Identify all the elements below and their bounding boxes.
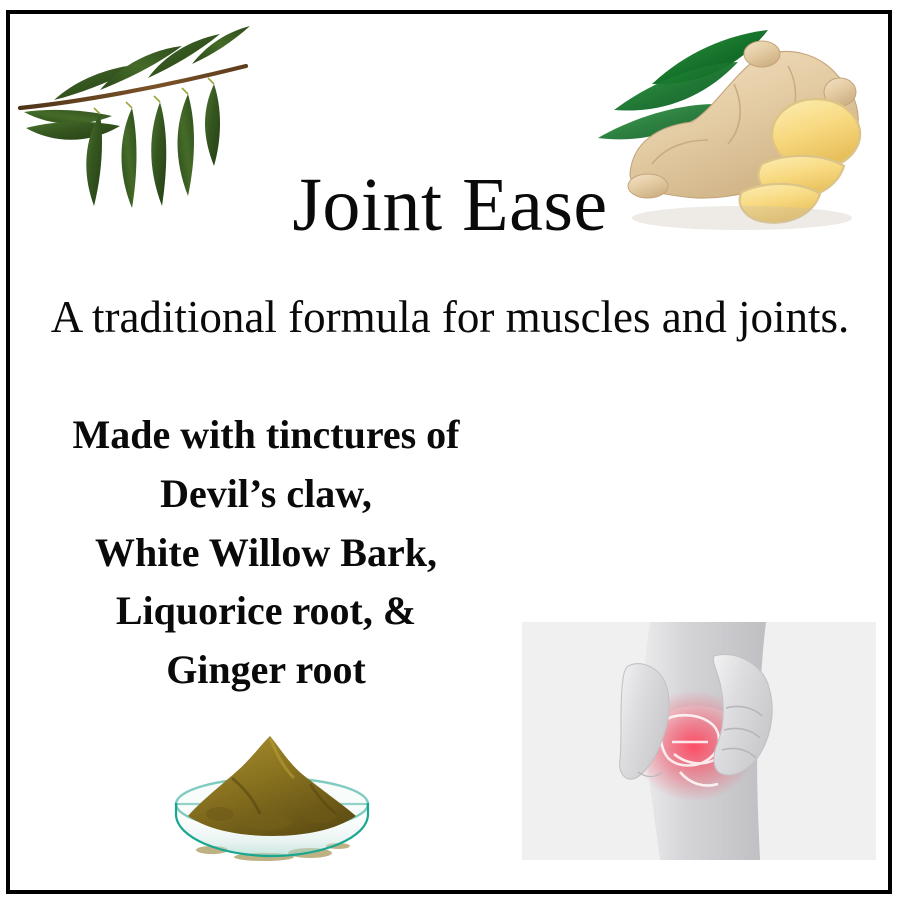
ingredients-line: White Willow Bark,: [12, 524, 520, 583]
ingredients-line: Made with tinctures of: [12, 406, 520, 465]
product-label-card: Joint Ease A traditional formula for mus…: [0, 0, 900, 900]
ingredients-line: Liquorice root, &: [12, 582, 520, 641]
product-title: Joint Ease: [0, 167, 900, 243]
ingredients-list: Made with tinctures of Devil’s claw, Whi…: [12, 406, 520, 700]
product-tagline: A traditional formula for muscles and jo…: [36, 288, 864, 347]
powder-dish-image: [160, 722, 384, 880]
ingredients-line: Devil’s claw,: [12, 465, 520, 524]
ingredients-line: Ginger root: [12, 641, 520, 700]
knee-pain-image: [522, 622, 876, 860]
